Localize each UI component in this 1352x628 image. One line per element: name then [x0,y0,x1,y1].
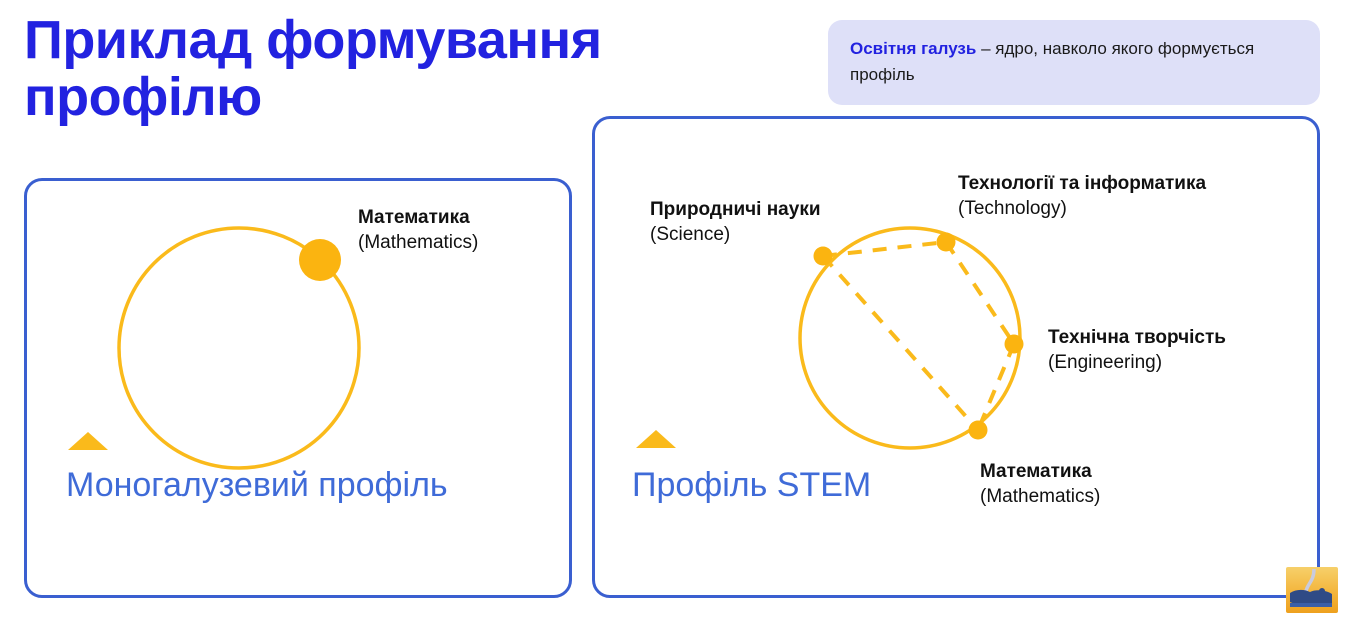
triangle-up-icon [636,430,676,448]
presentation-logo-icon [1286,567,1338,613]
node-label-en: (Mathematics) [358,231,478,256]
node-label-en: (Science) [650,223,821,248]
page-title: Приклад формування профілю [24,12,814,126]
callout-box: Освітня галузь – ядро, навколо якого фор… [828,20,1320,105]
node-label-ua: Математика [980,460,1100,485]
node-label-mathematics: Математика (Mathematics) [980,460,1100,509]
node-label-ua: Математика [358,206,478,231]
panel-monogaluzevyi [24,178,572,598]
node-label-mathematics: Математика (Mathematics) [358,206,478,255]
node-label-science: Природничі науки (Science) [650,198,821,247]
node-label-engineering: Технічна творчість (Engineering) [1048,326,1226,375]
triangle-up-icon [68,432,108,450]
node-label-en: (Mathematics) [980,485,1100,510]
panel-caption-mono: Моногалузевий профіль [66,466,506,505]
node-label-en: (Technology) [958,197,1206,222]
node-label-ua: Природничі науки [650,198,821,223]
node-label-ua: Технічна творчість [1048,326,1226,351]
logo-artwork [1286,567,1338,613]
panel-caption-stem: Профіль STEM [632,466,932,505]
node-label-ua: Технології та інформатика [958,172,1206,197]
node-label-en: (Engineering) [1048,351,1226,376]
callout-accent-text: Освітня галузь [850,39,976,58]
node-label-technology: Технології та інформатика (Technology) [958,172,1206,221]
